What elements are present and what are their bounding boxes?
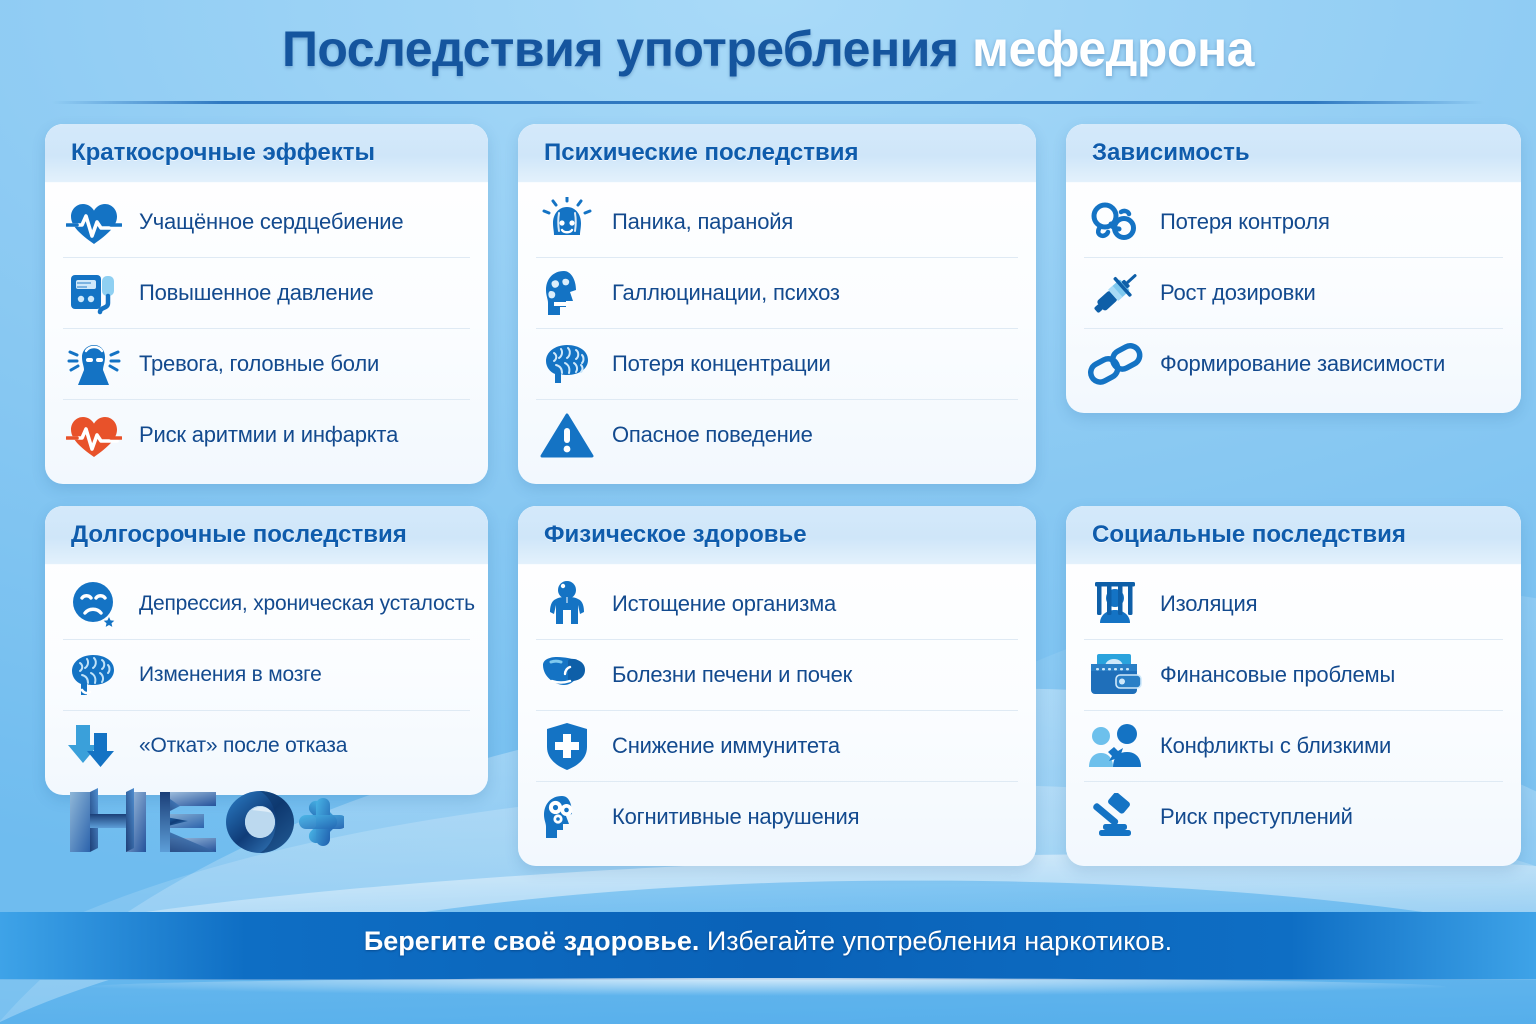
list-item-label: Депрессия, хроническая усталость (139, 592, 475, 616)
syringe-icon (1084, 265, 1146, 321)
list-item[interactable]: Потеря контроля (1084, 187, 1503, 258)
list-item-label: Галлюцинации, психоз (612, 280, 840, 306)
warning-triangle-icon (536, 407, 598, 463)
list-item[interactable]: Рост дозировки (1084, 258, 1503, 329)
card-title: Социальные последствия (1092, 521, 1406, 549)
list-item[interactable]: Болезни печени и почек (536, 640, 1018, 711)
list-item-label: Изменения в мозге (139, 663, 322, 687)
list-item-label: Опасное поведение (612, 422, 813, 448)
card-body: Паника, паранойя Галлюцинации, психоз (518, 183, 1036, 484)
list-item[interactable]: Формирование зависимости (1084, 329, 1503, 399)
card-social-consequences: Социальные последствия (1066, 506, 1521, 866)
card-header: Социальные последствия (1066, 506, 1521, 565)
brand-logo[interactable] (64, 784, 344, 860)
list-item-label: Рост дозировки (1160, 280, 1316, 306)
list-item-label: Паника, паранойя (612, 209, 793, 235)
card-body: Депрессия, хроническая усталость Изменен… (45, 565, 488, 795)
list-item[interactable]: Галлюцинации, психоз (536, 258, 1018, 329)
card-title: Зависимость (1092, 139, 1250, 167)
card-title: Долгосрочные последствия (71, 521, 407, 549)
chain-link-icon (1084, 336, 1146, 392)
heart-pulse-icon (63, 194, 125, 250)
card-title: Психические последствия (544, 139, 859, 167)
list-item[interactable]: Риск аритмии и инфаркта (63, 400, 470, 470)
list-item-label: Потеря контроля (1160, 209, 1330, 235)
card-body: Изоляция (1066, 565, 1521, 866)
cards-grid: Краткосрочные эффекты Учащённое сердцеби… (45, 124, 1491, 866)
liver-kidney-icon (536, 647, 598, 703)
shield-cross-icon (536, 718, 598, 774)
head-hallucination-icon (536, 265, 598, 321)
list-item-label: Финансовые проблемы (1160, 662, 1395, 688)
list-item[interactable]: Изменения в мозге (63, 640, 470, 711)
card-body: Истощение организма Болезни печени и поч… (518, 565, 1036, 866)
card-body: Учащённое сердцебиение (45, 183, 488, 484)
list-item[interactable]: Снижение иммунитета (536, 711, 1018, 782)
list-item[interactable]: Финансовые проблемы (1084, 640, 1503, 711)
list-item[interactable]: Когнитивные нарушения (536, 782, 1018, 852)
wallet-icon (1084, 647, 1146, 703)
list-item-label: Учащённое сердцебиение (139, 209, 403, 235)
infographic-canvas: Последствия употребления мефедрона Кратк… (0, 0, 1536, 1024)
card-physical-health: Физическое здоровье Истощение организма (518, 506, 1036, 866)
list-item[interactable]: «Откат» после отказа (63, 711, 470, 781)
list-item-label: Повышенное давление (139, 280, 374, 306)
list-item[interactable]: Риск преступлений (1084, 782, 1503, 852)
list-item-label: Изоляция (1160, 591, 1257, 617)
headache-person-icon (63, 336, 125, 392)
card-header: Долгосрочные последствия (45, 506, 488, 565)
list-item-label: Тревога, головные боли (139, 351, 379, 377)
panic-face-icon (536, 194, 598, 250)
list-item[interactable]: Истощение организма (536, 569, 1018, 640)
list-item-label: Когнитивные нарушения (612, 804, 859, 830)
card-long-term-consequences: Долгосрочные последствия Депрессия, хрон… (45, 506, 488, 795)
blood-pressure-monitor-icon (63, 265, 125, 321)
list-item-label: Формирование зависимости (1160, 351, 1445, 377)
list-item-label: «Откат» после отказа (139, 734, 347, 758)
title-divider (52, 101, 1484, 104)
list-item-label: Риск аритмии и инфаркта (139, 422, 398, 448)
card-title: Физическое здоровье (544, 521, 807, 549)
brain-icon (536, 336, 598, 392)
card-header: Физическое здоровье (518, 506, 1036, 565)
list-item[interactable]: Изоляция (1084, 569, 1503, 640)
list-item[interactable]: Опасное поведение (536, 400, 1018, 470)
list-item[interactable]: Тревога, головные боли (63, 329, 470, 400)
gavel-icon (1084, 789, 1146, 845)
list-item-label: Риск преступлений (1160, 804, 1353, 830)
card-header: Психические последствия (518, 124, 1036, 183)
sad-face-icon (63, 576, 125, 632)
list-item-label: Потеря концентрации (612, 351, 831, 377)
header: Последствия употребления мефедрона (0, 0, 1536, 112)
card-title: Краткосрочные эффекты (71, 139, 375, 167)
list-item-label: Болезни печени и почек (612, 662, 852, 688)
page-title-highlight: мефедрона (972, 21, 1254, 77)
list-item-label: Конфликты с близкими (1160, 733, 1391, 759)
card-header: Зависимость (1066, 124, 1521, 183)
thin-person-icon (536, 576, 598, 632)
card-body: Потеря контроля (1066, 183, 1521, 413)
head-gears-icon (536, 789, 598, 845)
card-dependency: Зависимость Потеря контроля (1066, 124, 1521, 413)
card-short-term-effects: Краткосрочные эффекты Учащённое сердцеби… (45, 124, 488, 484)
brain-change-icon (63, 647, 125, 703)
page-title: Последствия употребления мефедрона (0, 20, 1536, 78)
list-item[interactable]: Повышенное давление (63, 258, 470, 329)
prison-bars-icon (1084, 576, 1146, 632)
list-item[interactable]: Депрессия, хроническая усталость (63, 569, 470, 640)
footer-message-normal: Избегайте употребления наркотиков. (707, 926, 1172, 956)
down-arrows-icon (63, 718, 125, 774)
list-item-label: Истощение организма (612, 591, 836, 617)
heart-pulse-red-icon (63, 407, 125, 463)
list-item[interactable]: Конфликты с близкими (1084, 711, 1503, 782)
footer-message-bold: Берегите своё здоровье. (364, 926, 700, 956)
card-mental-consequences: Психические последствия (518, 124, 1036, 484)
footer-glow (90, 978, 1446, 996)
footer-message: Берегите своё здоровье. Избегайте употре… (0, 926, 1536, 957)
handcuffs-icon (1084, 194, 1146, 250)
list-item[interactable]: Учащённое сердцебиение (63, 187, 470, 258)
people-conflict-icon (1084, 718, 1146, 774)
card-header: Краткосрочные эффекты (45, 124, 488, 183)
list-item-label: Снижение иммунитета (612, 733, 840, 759)
page-title-primary: Последствия употребления (282, 21, 959, 77)
list-item[interactable]: Потеря концентрации (536, 329, 1018, 400)
list-item[interactable]: Паника, паранойя (536, 187, 1018, 258)
